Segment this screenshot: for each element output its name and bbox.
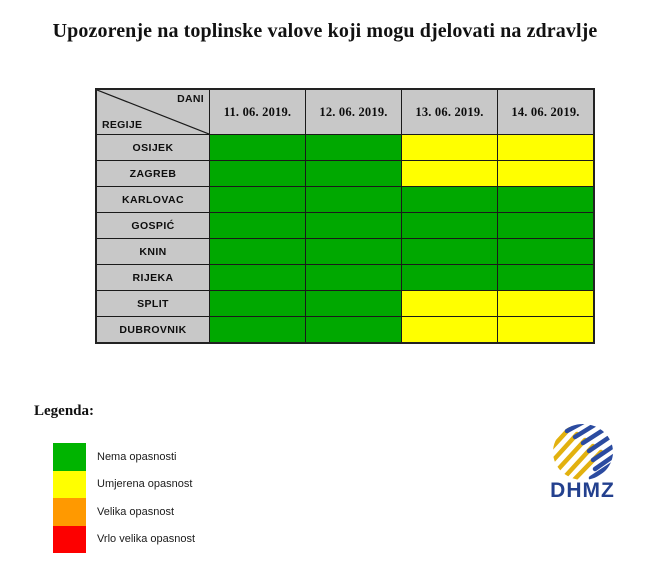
risk-cell <box>306 239 402 265</box>
risk-cell <box>498 187 595 213</box>
risk-cell <box>402 135 498 161</box>
legend-label: Velika opasnost <box>97 506 174 518</box>
corner-label-days: DANI <box>177 93 204 105</box>
table-corner-cell: DANI REGIJE <box>96 89 210 135</box>
legend-item: Umjerena opasnost <box>53 471 195 499</box>
risk-cell <box>210 135 306 161</box>
dhmz-emblem-icon <box>543 423 623 481</box>
risk-cell <box>306 135 402 161</box>
table-row: OSIJEK <box>96 135 594 161</box>
risk-cell <box>498 291 595 317</box>
risk-cell <box>306 161 402 187</box>
risk-cell <box>402 291 498 317</box>
table-body: OSIJEKZAGREBKARLOVACGOSPIĆKNINRIJEKASPLI… <box>96 135 594 344</box>
region-label-dubrovnik: DUBROVNIK <box>96 317 210 344</box>
legend-item: Nema opasnosti <box>53 443 195 471</box>
risk-cell <box>210 239 306 265</box>
region-label-split: SPLIT <box>96 291 210 317</box>
risk-cell <box>306 317 402 344</box>
legend-list: Nema opasnostiUmjerena opasnostVelika op… <box>53 443 195 553</box>
legend-label: Vrlo velika opasnost <box>97 533 195 545</box>
table-header: DANI REGIJE 11. 06. 2019. 12. 06. 2019. … <box>96 89 594 135</box>
region-label-rijeka: RIJEKA <box>96 265 210 291</box>
risk-cell <box>210 265 306 291</box>
table-row: GOSPIĆ <box>96 213 594 239</box>
table-row: KNIN <box>96 239 594 265</box>
page-title: Upozorenje na toplinske valove koji mogu… <box>0 20 650 43</box>
risk-cell <box>498 265 595 291</box>
legend-label: Nema opasnosti <box>97 451 177 463</box>
risk-cell <box>498 213 595 239</box>
risk-cell <box>402 187 498 213</box>
heat-warning-table: DANI REGIJE 11. 06. 2019. 12. 06. 2019. … <box>95 88 595 344</box>
legend-title: Legenda: <box>34 403 94 420</box>
table-row: DUBROVNIK <box>96 317 594 344</box>
table-row: SPLIT <box>96 291 594 317</box>
legend-swatch <box>53 498 86 526</box>
risk-cell <box>210 187 306 213</box>
region-label-zagreb: ZAGREB <box>96 161 210 187</box>
dhmz-wordmark: DHMZ <box>535 479 630 503</box>
legend-swatch <box>53 443 86 471</box>
risk-cell <box>402 213 498 239</box>
risk-cell <box>402 265 498 291</box>
column-header-date-2: 12. 06. 2019. <box>306 89 402 135</box>
legend-label: Umjerena opasnost <box>97 478 192 490</box>
table-row: KARLOVAC <box>96 187 594 213</box>
region-label-knin: KNIN <box>96 239 210 265</box>
legend-swatch <box>53 526 86 554</box>
legend: Legenda: Nema opasnostiUmjerena opasnost… <box>34 403 94 420</box>
column-header-date-3: 13. 06. 2019. <box>402 89 498 135</box>
risk-cell <box>306 213 402 239</box>
region-label-gospić: GOSPIĆ <box>96 213 210 239</box>
risk-cell <box>498 317 595 344</box>
table-header-row: DANI REGIJE 11. 06. 2019. 12. 06. 2019. … <box>96 89 594 135</box>
corner-label-regions: REGIJE <box>102 119 142 131</box>
risk-cell <box>210 213 306 239</box>
risk-cell <box>306 265 402 291</box>
table-row: RIJEKA <box>96 265 594 291</box>
region-label-osijek: OSIJEK <box>96 135 210 161</box>
risk-cell <box>498 239 595 265</box>
legend-item: Vrlo velika opasnost <box>53 526 195 554</box>
table-row: ZAGREB <box>96 161 594 187</box>
risk-cell <box>402 317 498 344</box>
dhmz-logo: DHMZ <box>535 423 630 511</box>
risk-cell <box>498 161 595 187</box>
risk-cell <box>306 187 402 213</box>
risk-cell <box>498 135 595 161</box>
risk-cell <box>210 291 306 317</box>
risk-cell <box>306 291 402 317</box>
column-header-date-4: 14. 06. 2019. <box>498 89 595 135</box>
column-header-date-1: 11. 06. 2019. <box>210 89 306 135</box>
risk-cell <box>210 161 306 187</box>
risk-cell <box>210 317 306 344</box>
legend-item: Velika opasnost <box>53 498 195 526</box>
risk-cell <box>402 239 498 265</box>
region-label-karlovac: KARLOVAC <box>96 187 210 213</box>
legend-swatch <box>53 471 86 499</box>
risk-cell <box>402 161 498 187</box>
